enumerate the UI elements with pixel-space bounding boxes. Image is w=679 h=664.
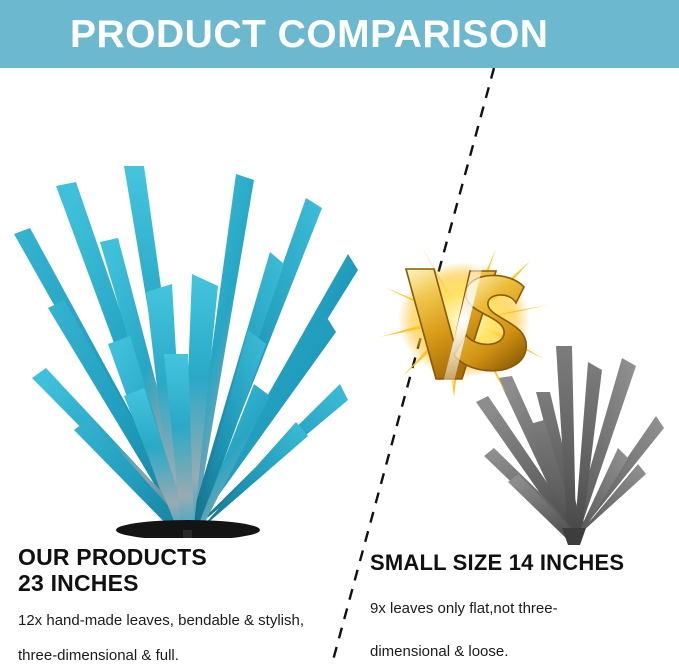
right-description-line2: dimensional & loose. [370,641,670,662]
left-description-line2: three-dimensional & full. [18,645,348,664]
right-description-line1: 9x leaves only flat,not three- [370,598,670,619]
left-description-line1: 12x hand-made leaves, bendable & stylish… [18,610,348,631]
left-headline-line2: 23 INCHES [18,570,348,596]
product-comparison-infographic: PRODUCT COMPARISON [0,0,679,664]
teal-agave-plant-image [0,78,366,538]
gray-plant-base [562,528,586,545]
left-headline-line1: OUR PRODUCTS [18,544,348,570]
right-headline-line1: SMALL SIZE 14 INCHES [370,550,670,576]
left-product-text: OUR PRODUCTS 23 INCHES 12x hand-made lea… [18,544,348,664]
vs-badge [378,243,550,398]
header-banner: PRODUCT COMPARISON [0,0,679,68]
right-product-text: SMALL SIZE 14 INCHES 9x leaves only flat… [370,550,670,662]
page-title: PRODUCT COMPARISON [70,15,548,54]
teal-plant-base [116,520,260,538]
